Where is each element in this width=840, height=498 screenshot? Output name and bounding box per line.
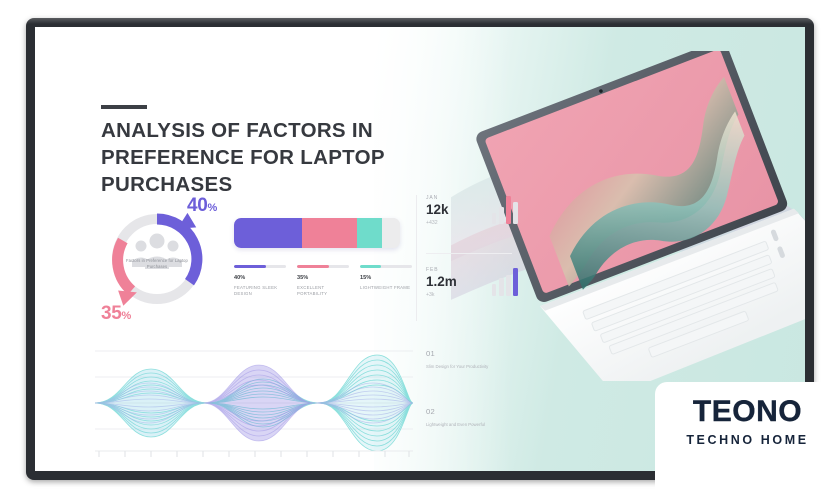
stacked-bar-segment-lightweight [357, 218, 382, 248]
feature-text: Slim Design for Your Productivity [426, 363, 522, 370]
donut-value-pink-number: 35 [101, 303, 122, 324]
waveform-ticks [99, 451, 409, 457]
teono-logo-badge: TEONO TECHNO HOME [655, 382, 840, 498]
donut-value-purple-unit: % [208, 202, 217, 214]
legend-percent: 40% [234, 275, 286, 281]
donut-value-pink-unit: % [122, 310, 131, 322]
donut-center-label: Factors in Preference for Laptop Purchas… [122, 258, 192, 270]
legend-fill [360, 265, 381, 268]
logo-wordmark: TEONO [693, 397, 802, 427]
legend-fill [297, 265, 329, 268]
bezel-gloss [26, 18, 814, 24]
stat-sparkline-feb [492, 266, 518, 296]
legend-item-lightweight: 15% LIGHTWEIGHT FRAME [360, 265, 412, 298]
legend-fill [234, 265, 266, 268]
stats-divider-vertical [416, 195, 417, 321]
legend-track [234, 265, 286, 268]
stacked-bar-segment-other [382, 218, 400, 248]
feature-item-01: 01 Slim Design for Your Productivity [426, 349, 522, 370]
legend-item-design: 40% FEATURING SLEEK DESIGN [234, 265, 286, 298]
stat-sparkline-jan [492, 194, 518, 224]
donut-value-purple: 40% [187, 195, 217, 217]
stats-divider-horizontal [426, 253, 512, 254]
legend-label: EXCELLENT PORTABILITY [297, 285, 349, 298]
waveform-chart [95, 339, 413, 463]
page-title-line-1: ANALYSIS OF FACTORS IN [101, 117, 501, 144]
legend: 40% FEATURING SLEEK DESIGN 35% EXCELLENT… [234, 265, 412, 298]
waveform-fill-blobs [95, 355, 413, 451]
slide-stage: ANALYSIS OF FACTORS IN PREFERENCE FOR LA… [0, 0, 840, 498]
feature-number: 01 [426, 349, 522, 358]
legend-percent: 35% [297, 275, 349, 281]
legend-track [297, 265, 349, 268]
legend-label: LIGHTWEIGHT FRAME [360, 285, 412, 291]
legend-item-portability: 35% EXCELLENT PORTABILITY [297, 265, 349, 298]
page-title-line-2: PREFERENCE FOR LAPTOP PURCHASES [101, 144, 501, 198]
title-rule [101, 105, 147, 109]
stacked-bar-segment-portability [302, 218, 357, 248]
feature-item-02: 02 Lightweight and Even Powerful [426, 407, 522, 428]
feature-number: 02 [426, 407, 522, 416]
stacked-bar-chart [234, 218, 400, 248]
stat-card-jan: JAN 12k +432 [426, 195, 518, 226]
page-title: ANALYSIS OF FACTORS IN PREFERENCE FOR LA… [101, 117, 501, 198]
donut-value-purple-number: 40 [187, 195, 208, 216]
donut-chart: Factors in Preference for Laptop Purchas… [101, 203, 213, 315]
legend-track [360, 265, 412, 268]
legend-label: FEATURING SLEEK DESIGN [234, 285, 286, 298]
legend-percent: 15% [360, 275, 412, 281]
logo-tagline: TECHNO HOME [686, 433, 808, 447]
waveform-svg [95, 339, 413, 463]
feature-text: Lightweight and Even Powerful [426, 421, 522, 428]
stacked-bar-segment-design [234, 218, 302, 248]
donut-value-pink: 35% [101, 303, 131, 325]
stat-card-feb: FEB 1.2m +3k [426, 267, 518, 298]
